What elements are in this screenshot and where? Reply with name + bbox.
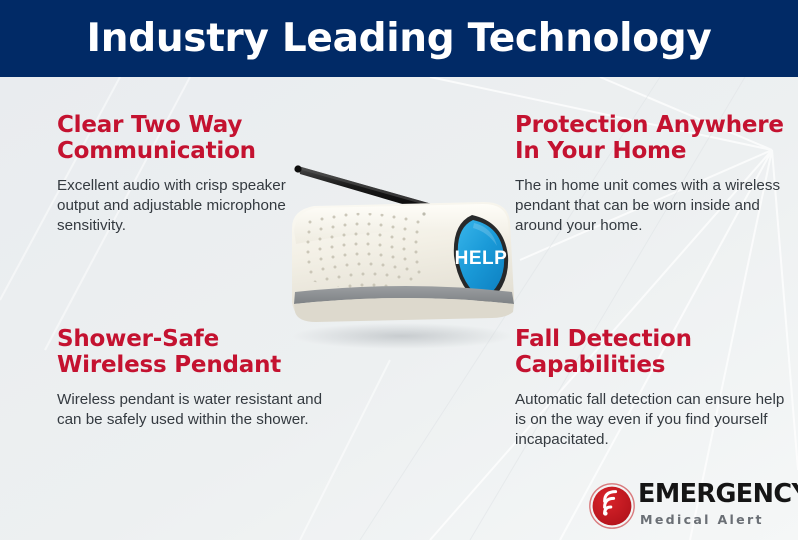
device-base-lip: [294, 298, 514, 322]
medical-alert-base-unit-image: HELP: [278, 152, 526, 352]
logo-primary-text: EMERGENCY: [638, 482, 788, 508]
feature-body: Wireless pendant is water resistant and …: [57, 390, 325, 430]
logo-secondary-text: Medical Alert: [640, 514, 788, 527]
feature-block-fall-detection-capabilities: Fall Detection Capabilities Automatic fa…: [515, 326, 793, 450]
help-button-label: HELP: [455, 248, 508, 269]
feature-block-protection-anywhere-in-your-home: Protection Anywhere In Your Home The in …: [515, 112, 793, 236]
signal-waves-icon: [588, 482, 636, 530]
feature-body: The in home unit comes with a wireless p…: [515, 176, 793, 236]
logo-wordmark: EMERGENCY Medical Alert: [638, 482, 788, 526]
status-led: [422, 212, 425, 215]
infographic-canvas: Industry Leading Technology Clear Two Wa…: [0, 0, 798, 540]
feature-title: Fall Detection Capabilities: [515, 326, 793, 378]
brand-logo: EMERGENCY Medical Alert: [588, 480, 788, 534]
feature-body: Automatic fall detection can ensure help…: [515, 390, 793, 450]
device-shadow: [292, 323, 512, 349]
page-title: Industry Leading Technology: [0, 0, 798, 77]
feature-title: Protection Anywhere In Your Home: [515, 112, 793, 164]
